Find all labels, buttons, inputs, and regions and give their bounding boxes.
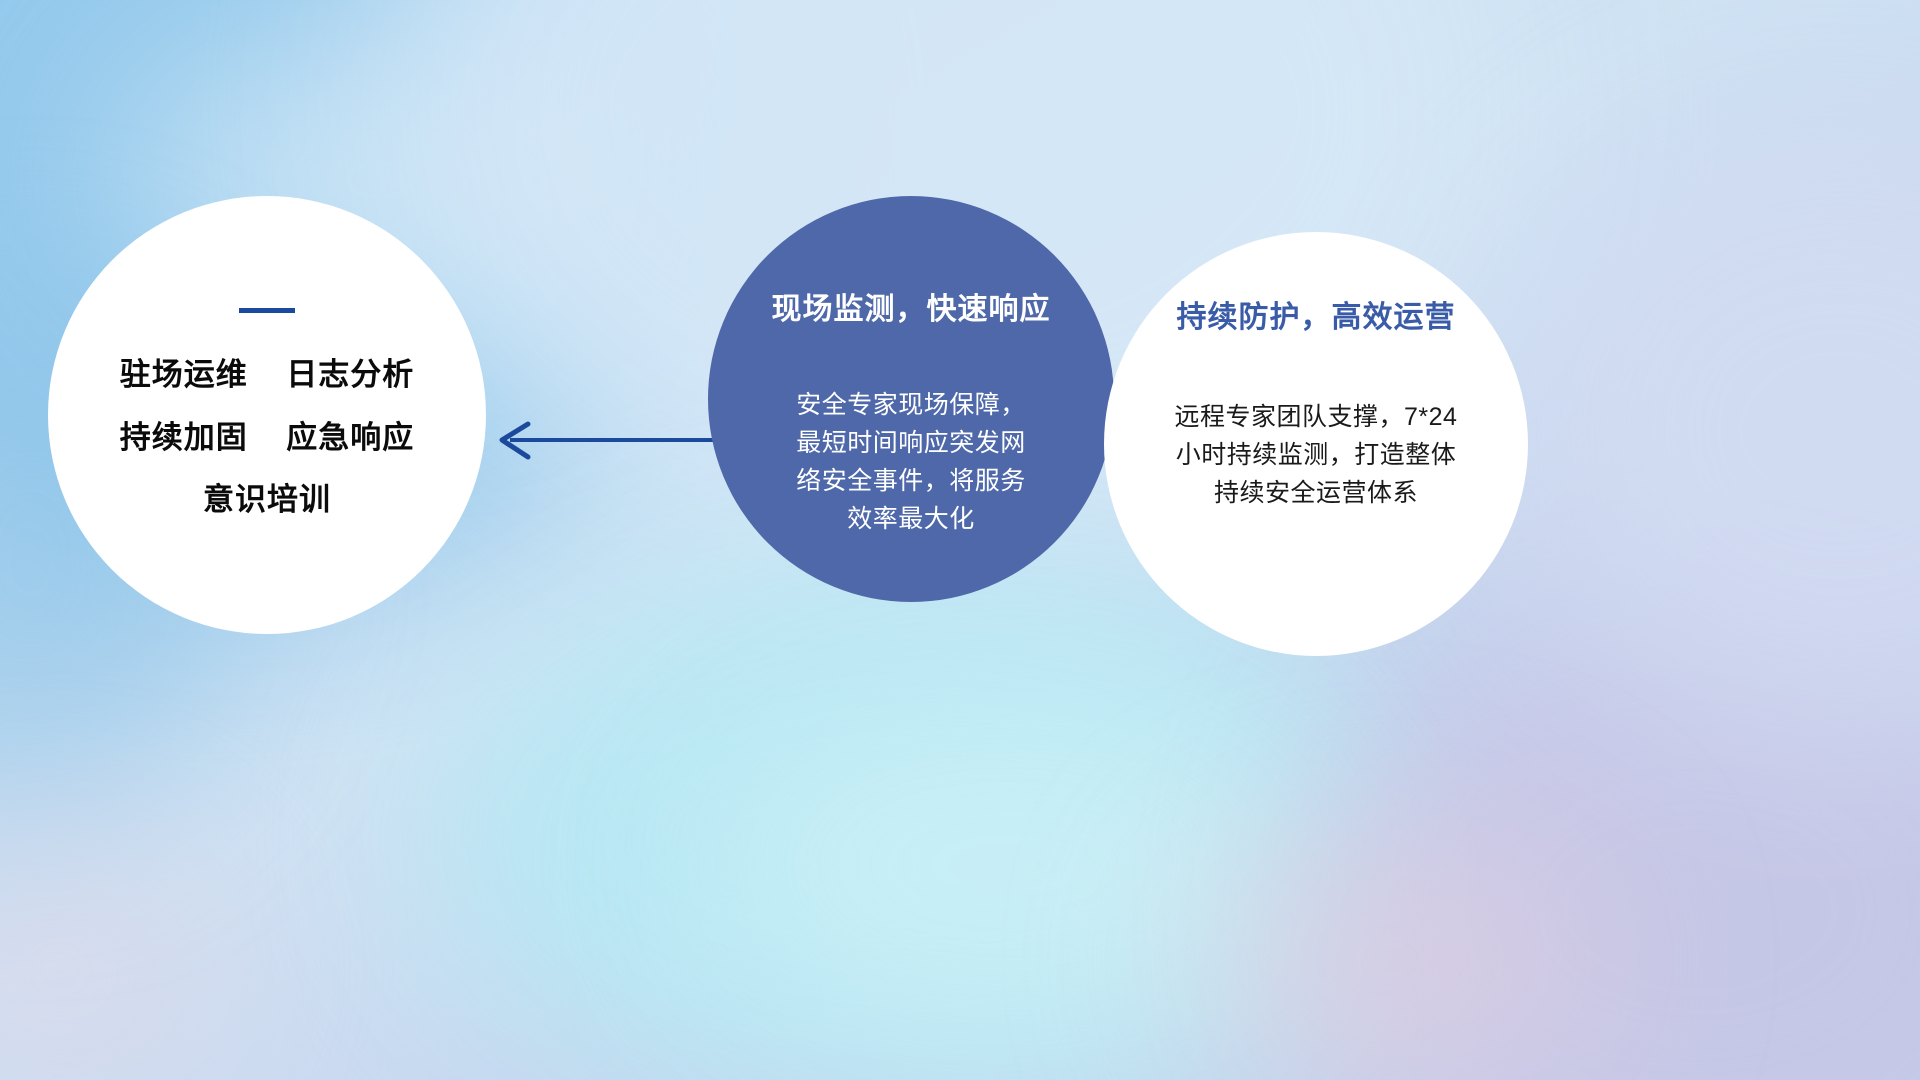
feature-body-onsite: 安全专家现场保障， 最短时间响应突发网 络安全事件，将服务 效率最大化 [756, 386, 1066, 538]
feature-title-onsite: 现场监测，快速响应 [772, 284, 1051, 328]
feature-body-remote-line-2: 小时持续监测，打造整体 [1146, 436, 1486, 474]
capability-line-2: 持续加固 应急响应 [120, 422, 414, 455]
feature-body-remote-line-3: 持续安全运营体系 [1146, 474, 1486, 512]
feature-body-remote: 远程专家团队支撑，7*24 小时持续监测，打造整体 持续安全运营体系 [1146, 398, 1486, 512]
feature-title-remote: 持续防护，高效运营 [1177, 292, 1456, 336]
capability-line-1: 驻场运维 日志分析 [120, 359, 414, 392]
feature-body-remote-line-1: 远程专家团队支撑，7*24 [1146, 398, 1486, 436]
feature-body-onsite-line-2: 最短时间响应突发网 [756, 424, 1066, 462]
feature-body-onsite-line-4: 效率最大化 [756, 500, 1066, 538]
capability-line-3: 意识培训 [203, 484, 331, 517]
slide-canvas: 驻场运维 日志分析 持续加固 应急响应 意识培训 现场监测，快速响应 安全专家现… [0, 0, 1920, 1080]
capability-circle-left[interactable]: 驻场运维 日志分析 持续加固 应急响应 意识培训 [48, 196, 486, 634]
feature-circle-onsite[interactable]: 现场监测，快速响应 安全专家现场保障， 最短时间响应突发网 络安全事件，将服务 … [708, 196, 1114, 602]
background-blob-pink-left [0, 820, 240, 1080]
feature-body-onsite-line-1: 安全专家现场保障， [756, 386, 1066, 424]
feature-circle-remote[interactable]: 持续防护，高效运营 远程专家团队支撑，7*24 小时持续监测，打造整体 持续安全… [1104, 232, 1528, 656]
divider-dash [239, 308, 295, 313]
feature-body-onsite-line-3: 络安全事件，将服务 [756, 462, 1066, 500]
background-blob-pink [1180, 830, 1600, 1080]
